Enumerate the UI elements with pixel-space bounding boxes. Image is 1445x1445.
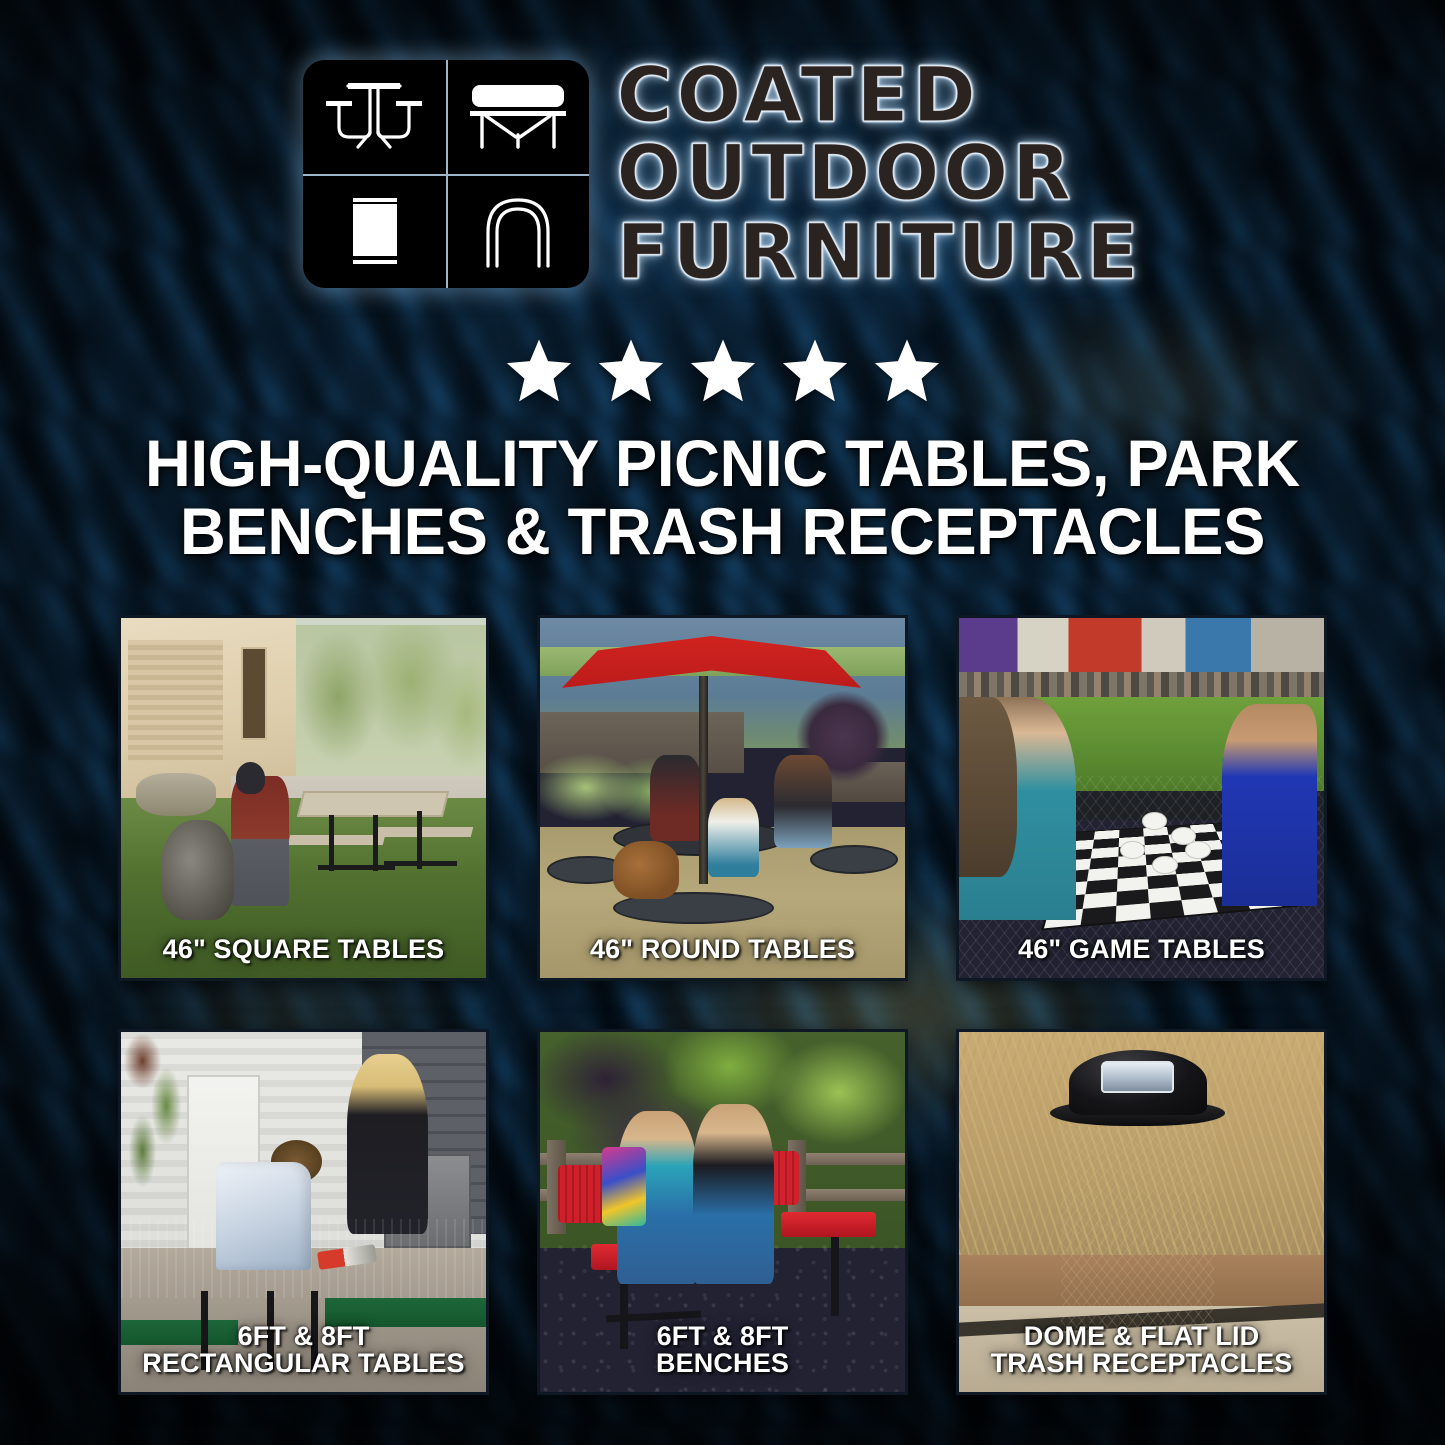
tile-caption-line-2: RECTANGULAR TABLES	[129, 1350, 478, 1378]
product-tile-round-tables[interactable]: 46" ROUND TABLES	[537, 615, 908, 981]
tile-caption: 6FT & 8FT RECTANGULAR TABLES	[121, 1323, 486, 1378]
tile-caption: 46" GAME TABLES	[959, 936, 1324, 964]
star-icon	[688, 336, 758, 406]
tile-caption-line-1: 46" ROUND TABLES	[548, 936, 897, 964]
product-tile-rectangular-tables[interactable]: 6FT & 8FT RECTANGULAR TABLES	[118, 1029, 489, 1395]
page-title: HIGH-QUALITY PICNIC TABLES, PARK BENCHES…	[29, 430, 1416, 566]
brand-logo: COATED OUTDOOR FURNITURE	[0, 58, 1445, 289]
tile-caption-line-2: BENCHES	[548, 1350, 897, 1378]
star-icon	[780, 336, 850, 406]
product-tile-benches[interactable]: 6FT & 8FT BENCHES	[537, 1029, 908, 1395]
brand-line-2: OUTDOOR	[617, 136, 1075, 210]
product-category-grid: 46" SQUARE TABLES	[118, 615, 1328, 1395]
tile-caption-line-1: 46" SQUARE TABLES	[129, 936, 478, 964]
headline-line-2: BENCHES & TRASH RECEPTACLES	[96, 498, 1349, 566]
product-tile-game-tables[interactable]: 46" GAME TABLES	[956, 615, 1327, 981]
promo-poster: COATED OUTDOOR FURNITURE HIGH-QUALITY PI…	[0, 0, 1445, 1445]
bench-profile-icon	[446, 60, 589, 174]
brand-line-1: COATED	[617, 58, 980, 132]
star-icon	[872, 336, 942, 406]
tile-image-square-tables	[121, 618, 486, 978]
tile-caption-line-2: TRASH RECEPTACLES	[967, 1350, 1316, 1378]
star-rating	[0, 336, 1445, 406]
tile-caption-line-1: 6FT & 8FT	[129, 1323, 478, 1351]
brand-wordmark: COATED OUTDOOR FURNITURE	[617, 58, 1143, 289]
product-tile-trash-receptacles[interactable]: DOME & FLAT LID TRASH RECEPTACLES	[956, 1029, 1327, 1395]
tile-caption-line-1: 6FT & 8FT	[548, 1323, 897, 1351]
tile-image-round-tables	[540, 618, 905, 978]
tile-caption: 6FT & 8FT BENCHES	[540, 1323, 905, 1378]
headline-line-1: HIGH-QUALITY PICNIC TABLES, PARK	[96, 430, 1349, 498]
tile-image-game-tables	[959, 618, 1324, 978]
product-tile-square-tables[interactable]: 46" SQUARE TABLES	[118, 615, 489, 981]
trash-receptacle-icon	[303, 174, 446, 288]
brand-line-3: FURNITURE	[617, 215, 1143, 289]
tile-caption-line-1: 46" GAME TABLES	[967, 936, 1316, 964]
tile-caption: DOME & FLAT LID TRASH RECEPTACLES	[959, 1323, 1324, 1378]
star-icon	[504, 336, 574, 406]
tile-caption: 46" SQUARE TABLES	[121, 936, 486, 964]
tile-caption: 46" ROUND TABLES	[540, 936, 905, 964]
tile-caption-line-1: DOME & FLAT LID	[967, 1323, 1316, 1351]
star-icon	[596, 336, 666, 406]
picnic-table-icon	[303, 60, 446, 174]
logo-mark-grid	[303, 60, 589, 288]
dome-arch-icon	[446, 174, 589, 288]
